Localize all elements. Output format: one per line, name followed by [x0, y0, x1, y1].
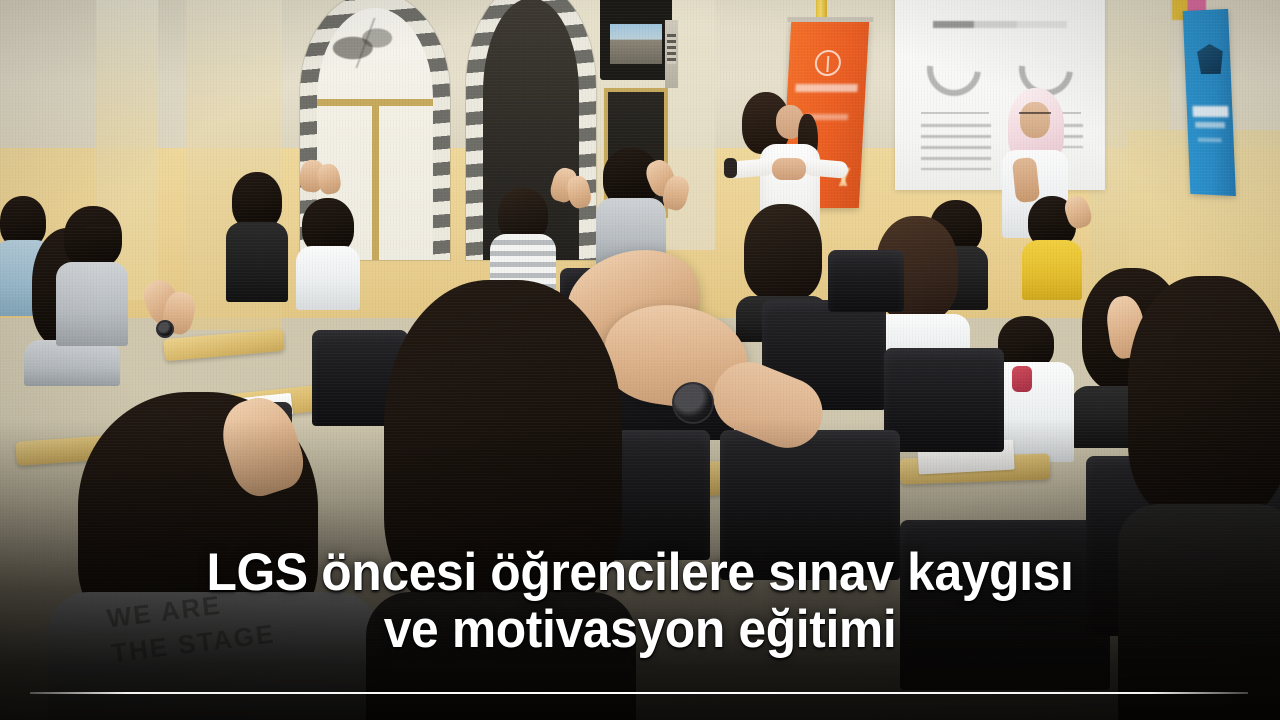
person-torso: [296, 246, 360, 310]
presenter-hands: [772, 158, 806, 180]
banner-text-line: [1198, 138, 1222, 142]
news-photo-card: WE ARE THE STAGE LGS öncesi öğrencilere …: [0, 0, 1280, 720]
slide-text-block: [921, 124, 991, 170]
wall-switch-plate: [665, 20, 678, 88]
audience-member: [296, 198, 360, 310]
glasses-icon: [1019, 112, 1051, 120]
slide-divider: [921, 112, 989, 114]
person-head: [744, 204, 822, 300]
wristwatch: [156, 320, 174, 338]
slide-title-bar: [933, 21, 1067, 28]
person-head: [64, 206, 122, 268]
banner-text-line: [795, 84, 857, 92]
person-torso: [24, 340, 120, 386]
chair-back: [828, 250, 904, 312]
chair-back: [884, 348, 1004, 452]
slide-donut-chart: [916, 31, 992, 107]
headline-overlay: LGS öncesi öğrencilere sınav kaygısı ve …: [0, 544, 1280, 658]
headline-line-1: LGS öncesi öğrencilere sınav kaygısı: [76, 544, 1204, 601]
banner-text-line: [1195, 122, 1225, 128]
presenter-cuff: [724, 158, 737, 178]
municipality-crest-icon: [1197, 44, 1224, 75]
banner-logo-icon: [814, 50, 841, 76]
speaker-face: [1020, 102, 1050, 138]
audience-member: [226, 172, 288, 302]
person-head: [1128, 276, 1280, 516]
blue-rollup-banner: [1183, 9, 1236, 196]
banner-text-line: [1193, 106, 1229, 117]
person-torso: [226, 222, 288, 302]
wristwatch: [672, 382, 714, 424]
glasses-icon: [86, 226, 120, 235]
headline-line-2: ve motivasyon eğitimi: [76, 601, 1204, 658]
window-decal: [330, 18, 406, 68]
person-torso: [56, 262, 128, 346]
headline-divider: [30, 692, 1248, 694]
wall-monitor-screen: [610, 24, 662, 64]
window-mullion: [372, 105, 379, 260]
lanyard-badge: [1012, 366, 1032, 392]
